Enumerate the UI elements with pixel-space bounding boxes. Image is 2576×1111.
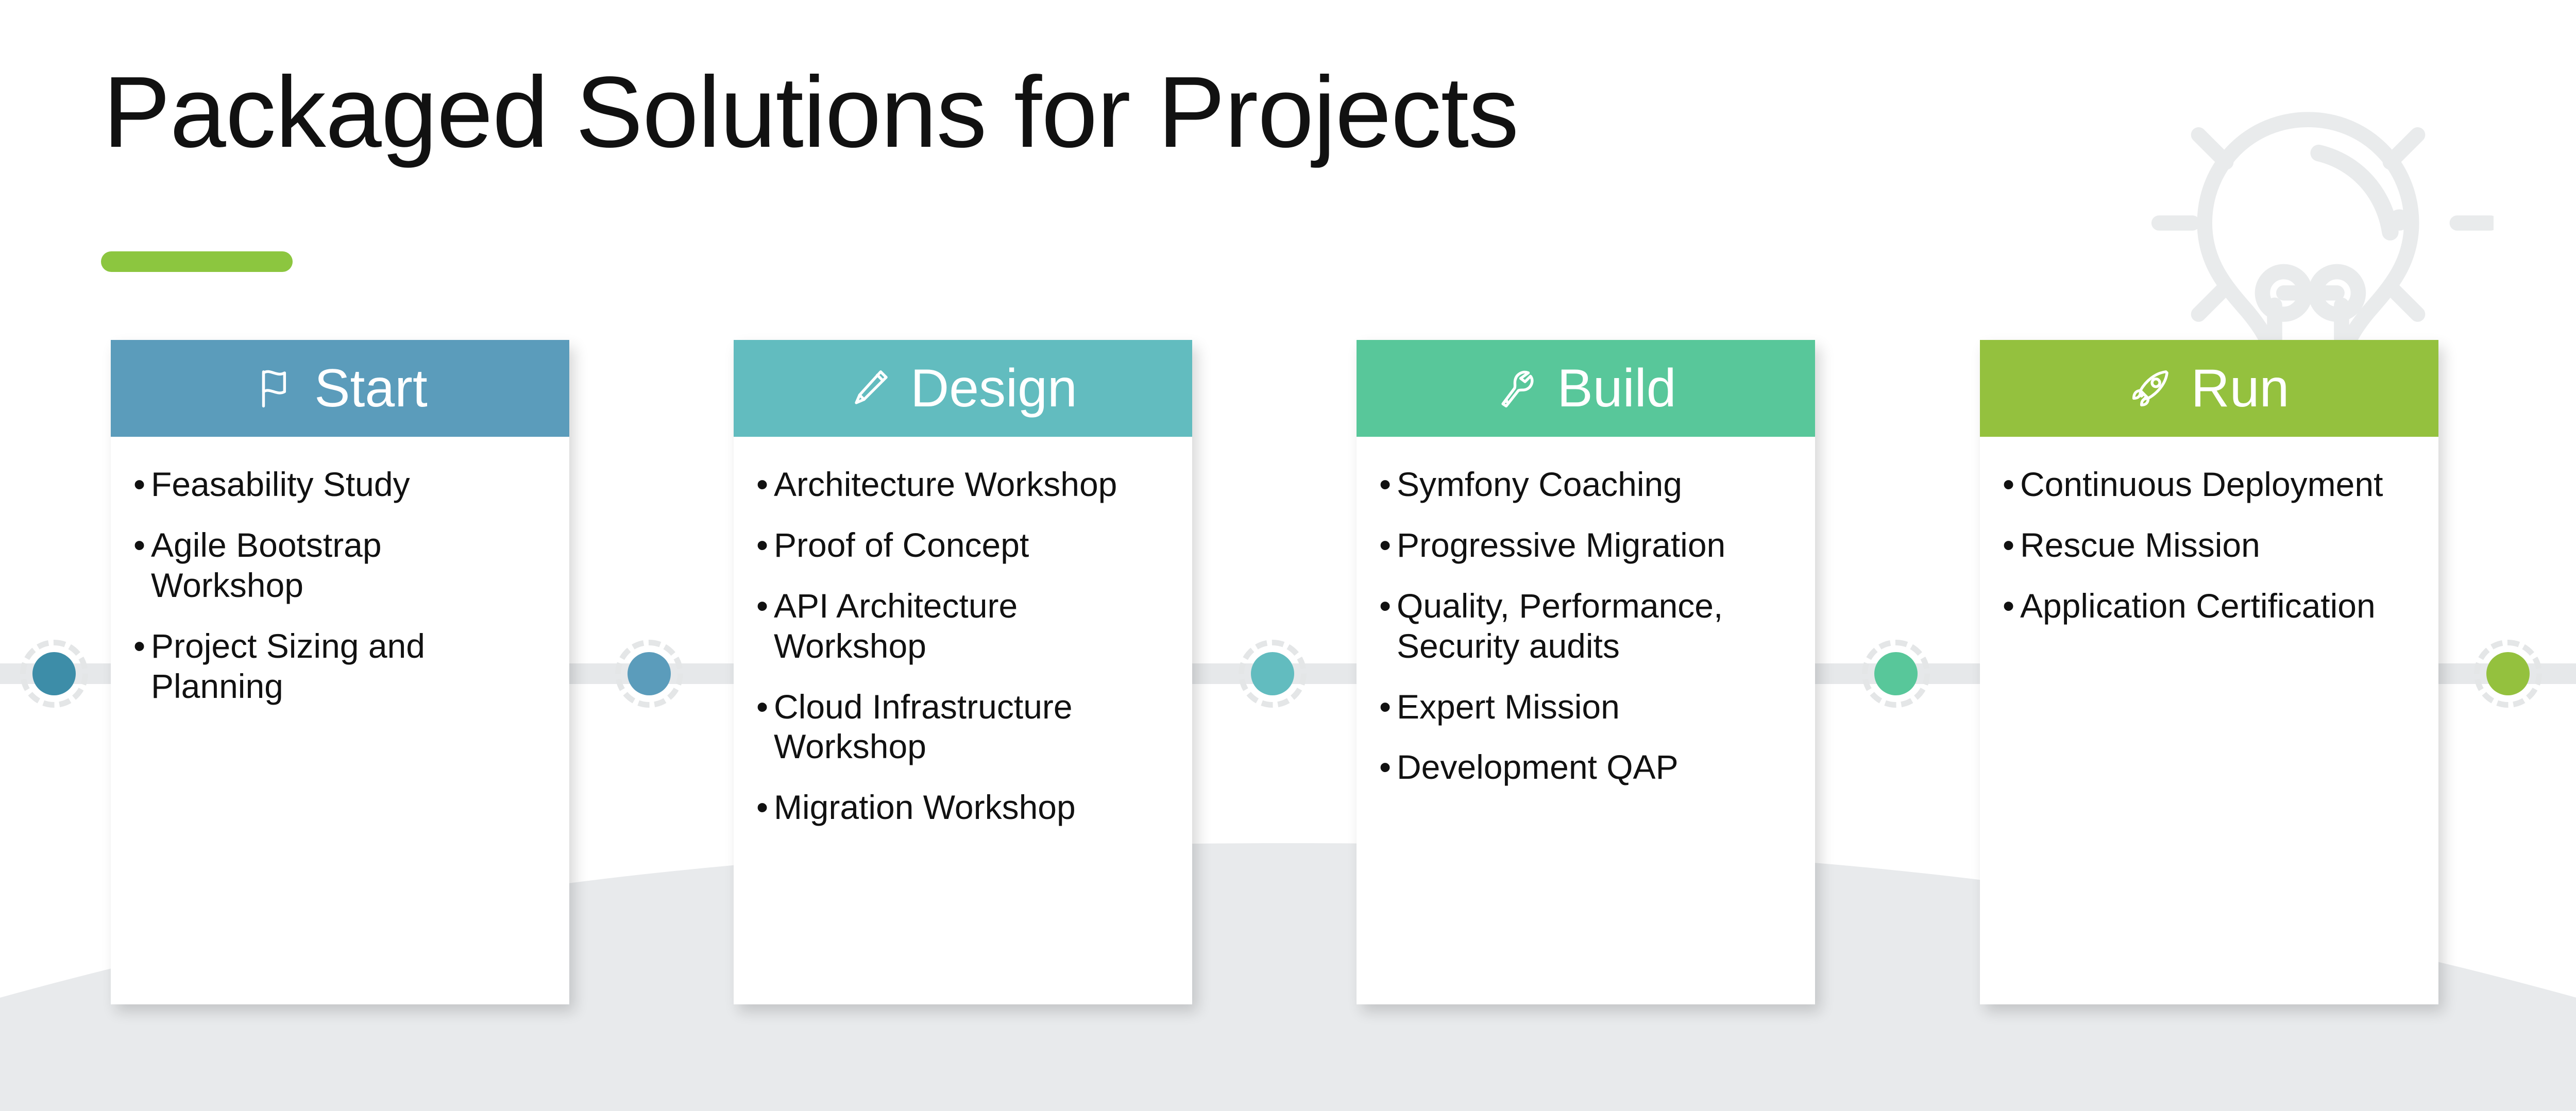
bullet-icon: • <box>756 788 774 828</box>
list-item-label: Progressive Migration <box>1397 525 1788 566</box>
list-item-label: Proof of Concept <box>774 525 1165 566</box>
list-item-label: Quality, Performance, Security audits <box>1397 586 1788 666</box>
list-item[interactable]: •Symfony Coaching <box>1379 465 1788 505</box>
list-item-label: Cloud Infrastructure Workshop <box>774 687 1165 767</box>
bullet-icon: • <box>756 687 774 727</box>
list-item[interactable]: •Cloud Infrastructure Workshop <box>756 687 1165 767</box>
list-item[interactable]: •Progressive Migration <box>1379 525 1788 566</box>
stage-list-design: •Architecture Workshop•Proof of Concept•… <box>734 437 1192 1004</box>
list-item[interactable]: •Agile Bootstrap Workshop <box>133 525 543 606</box>
pencil-icon <box>849 366 893 411</box>
list-item-label: Feasability Study <box>151 465 543 505</box>
list-item-label: Architecture Workshop <box>774 465 1165 505</box>
page-title: Packaged Solutions for Projects <box>103 62 1518 163</box>
stage-list-build: •Symfony Coaching•Progressive Migration•… <box>1357 437 1815 1004</box>
list-item[interactable]: •Feasability Study <box>133 465 543 505</box>
bullet-icon: • <box>1379 747 1397 788</box>
list-item-label: Rescue Mission <box>2020 525 2412 566</box>
bullet-icon: • <box>756 465 774 505</box>
list-item-label: Project Sizing and Planning <box>151 626 543 707</box>
stage-card-build[interactable]: Build•Symfony Coaching•Progressive Migra… <box>1357 340 1815 1004</box>
list-item[interactable]: •Migration Workshop <box>756 788 1165 828</box>
stage-title-run: Run <box>2191 362 2290 415</box>
node-run[interactable] <box>2486 652 2530 695</box>
bullet-icon: • <box>133 465 151 505</box>
list-item-label: Development QAP <box>1397 747 1788 788</box>
bullet-icon: • <box>133 626 151 666</box>
list-item-label: Symfony Coaching <box>1397 465 1788 505</box>
stage-header-design[interactable]: Design <box>734 340 1192 437</box>
list-item[interactable]: •Development QAP <box>1379 747 1788 788</box>
stage-list-run: •Continuous Deployment•Rescue Mission•Ap… <box>1980 437 2438 1004</box>
list-item-label: Application Certification <box>2020 586 2412 626</box>
list-item-label: Expert Mission <box>1397 687 1788 727</box>
stage-title-design: Design <box>910 362 1077 415</box>
bullet-icon: • <box>1379 525 1397 566</box>
list-item[interactable]: •Application Certification <box>2003 586 2412 626</box>
list-item-label: Migration Workshop <box>774 788 1165 828</box>
bullet-icon: • <box>2003 525 2020 566</box>
list-item[interactable]: •Expert Mission <box>1379 687 1788 727</box>
list-item[interactable]: •Rescue Mission <box>2003 525 2412 566</box>
stage-card-start[interactable]: Start•Feasability Study•Agile Bootstrap … <box>111 340 569 1004</box>
stage-card-run[interactable]: Run•Continuous Deployment•Rescue Mission… <box>1980 340 2438 1004</box>
bullet-icon: • <box>1379 465 1397 505</box>
bullet-icon: • <box>133 525 151 566</box>
list-item-label: Continuous Deployment <box>2020 465 2412 505</box>
stage-list-start: •Feasability Study•Agile Bootstrap Works… <box>111 437 569 1004</box>
list-item[interactable]: •Proof of Concept <box>756 525 1165 566</box>
list-item-label: API Architecture Workshop <box>774 586 1165 666</box>
bullet-icon: • <box>756 586 774 626</box>
slide-canvas: Packaged Solutions for Projects Start•Fe… <box>0 0 2576 1111</box>
list-item[interactable]: •Architecture Workshop <box>756 465 1165 505</box>
rocket-icon <box>2129 366 2174 411</box>
title-accent-underline <box>101 251 293 272</box>
node-start[interactable] <box>628 652 671 695</box>
node-origin[interactable] <box>32 652 76 695</box>
stage-header-run[interactable]: Run <box>1980 340 2438 437</box>
list-item[interactable]: •Quality, Performance, Security audits <box>1379 586 1788 666</box>
bullet-icon: • <box>2003 465 2020 505</box>
list-item[interactable]: •Continuous Deployment <box>2003 465 2412 505</box>
lightbulb-icon <box>2123 62 2494 381</box>
bullet-icon: • <box>2003 586 2020 626</box>
flag-icon <box>252 366 297 411</box>
bullet-icon: • <box>1379 586 1397 626</box>
stage-header-build[interactable]: Build <box>1357 340 1815 437</box>
bullet-icon: • <box>756 525 774 566</box>
bullet-icon: • <box>1379 687 1397 727</box>
node-build[interactable] <box>1874 652 1918 695</box>
stage-title-build: Build <box>1557 362 1676 415</box>
stage-header-start[interactable]: Start <box>111 340 569 437</box>
wrench-icon <box>1495 366 1539 411</box>
list-item[interactable]: •Project Sizing and Planning <box>133 626 543 707</box>
list-item-label: Agile Bootstrap Workshop <box>151 525 543 606</box>
list-item[interactable]: •API Architecture Workshop <box>756 586 1165 666</box>
node-design[interactable] <box>1251 652 1294 695</box>
stage-card-design[interactable]: Design•Architecture Workshop•Proof of Co… <box>734 340 1192 1004</box>
stage-title-start: Start <box>314 362 428 415</box>
